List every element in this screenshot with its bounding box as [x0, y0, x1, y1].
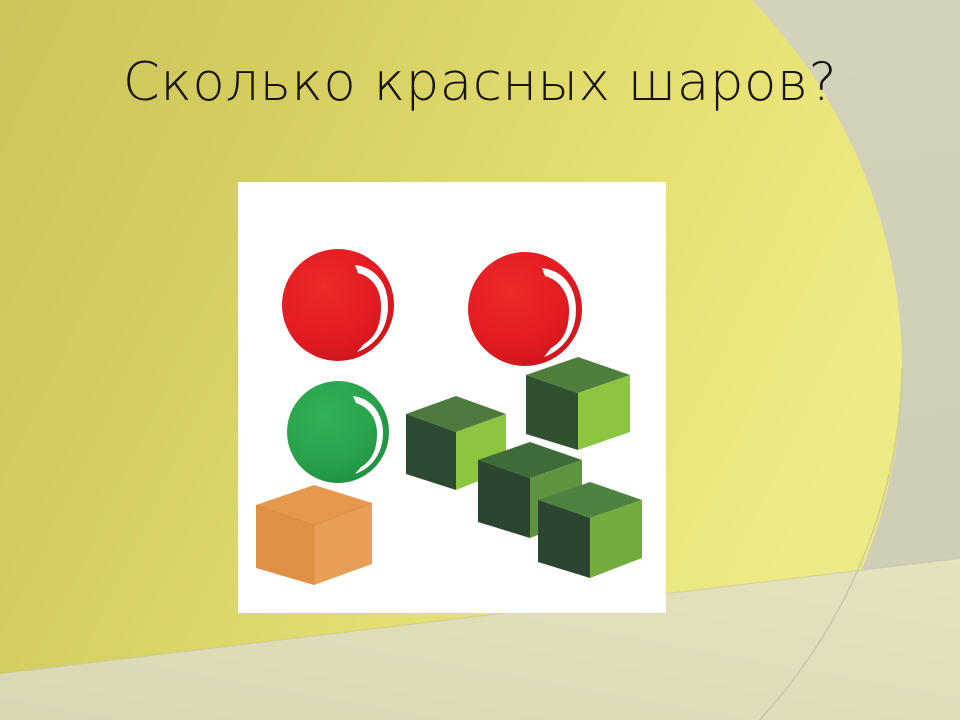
page-title: Сколько красных шаров?	[0, 54, 960, 112]
green-cube-top-right	[526, 357, 630, 450]
counting-shapes-image	[238, 182, 666, 613]
green-cube-front-right	[538, 482, 642, 578]
orange-cube	[256, 485, 372, 585]
red-sphere-right	[468, 252, 582, 366]
bg-arc-hairline	[640, 368, 902, 720]
slide: Сколько красных шаров?	[0, 0, 960, 720]
green-sphere	[287, 381, 389, 483]
red-sphere-left	[282, 249, 394, 361]
shapes-illustration	[238, 182, 666, 613]
